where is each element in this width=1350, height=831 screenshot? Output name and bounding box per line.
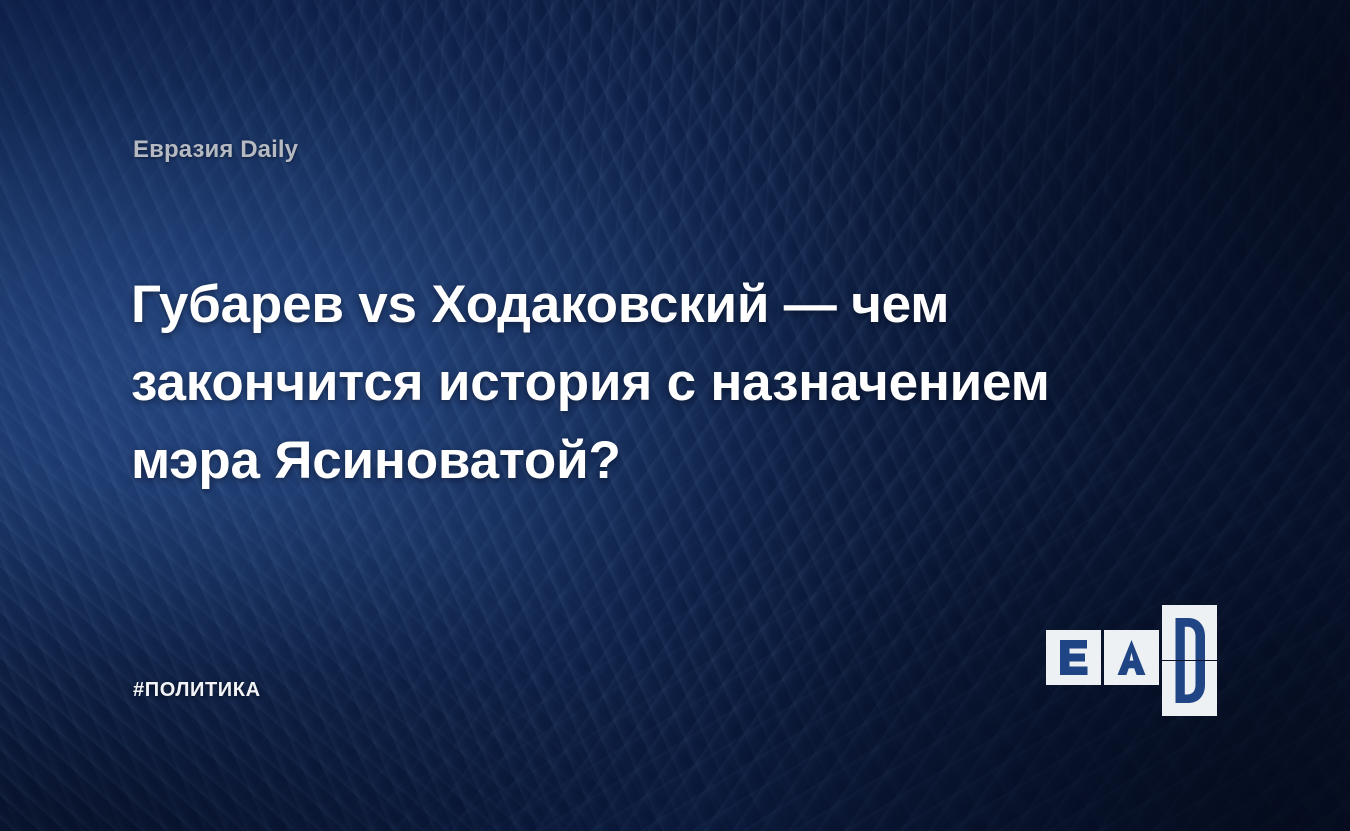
eadaily-logo [1046, 605, 1222, 713]
logo-tile-d-lower [1162, 661, 1217, 716]
logo-tile-d-upper [1162, 605, 1217, 660]
logo-tile-e [1046, 630, 1101, 685]
article-headline: Губарев vs Ходаковский — чем закончится … [131, 266, 1111, 500]
category-hashtag: #ПОЛИТИКА [133, 679, 261, 702]
social-share-card: Евразия Daily Губарев vs Ходаковский — ч… [0, 0, 1350, 831]
site-brand-name: Евразия Daily [133, 136, 298, 164]
card-content: Евразия Daily Губарев vs Ходаковский — ч… [0, 0, 1350, 831]
logo-tile-a [1104, 630, 1159, 685]
